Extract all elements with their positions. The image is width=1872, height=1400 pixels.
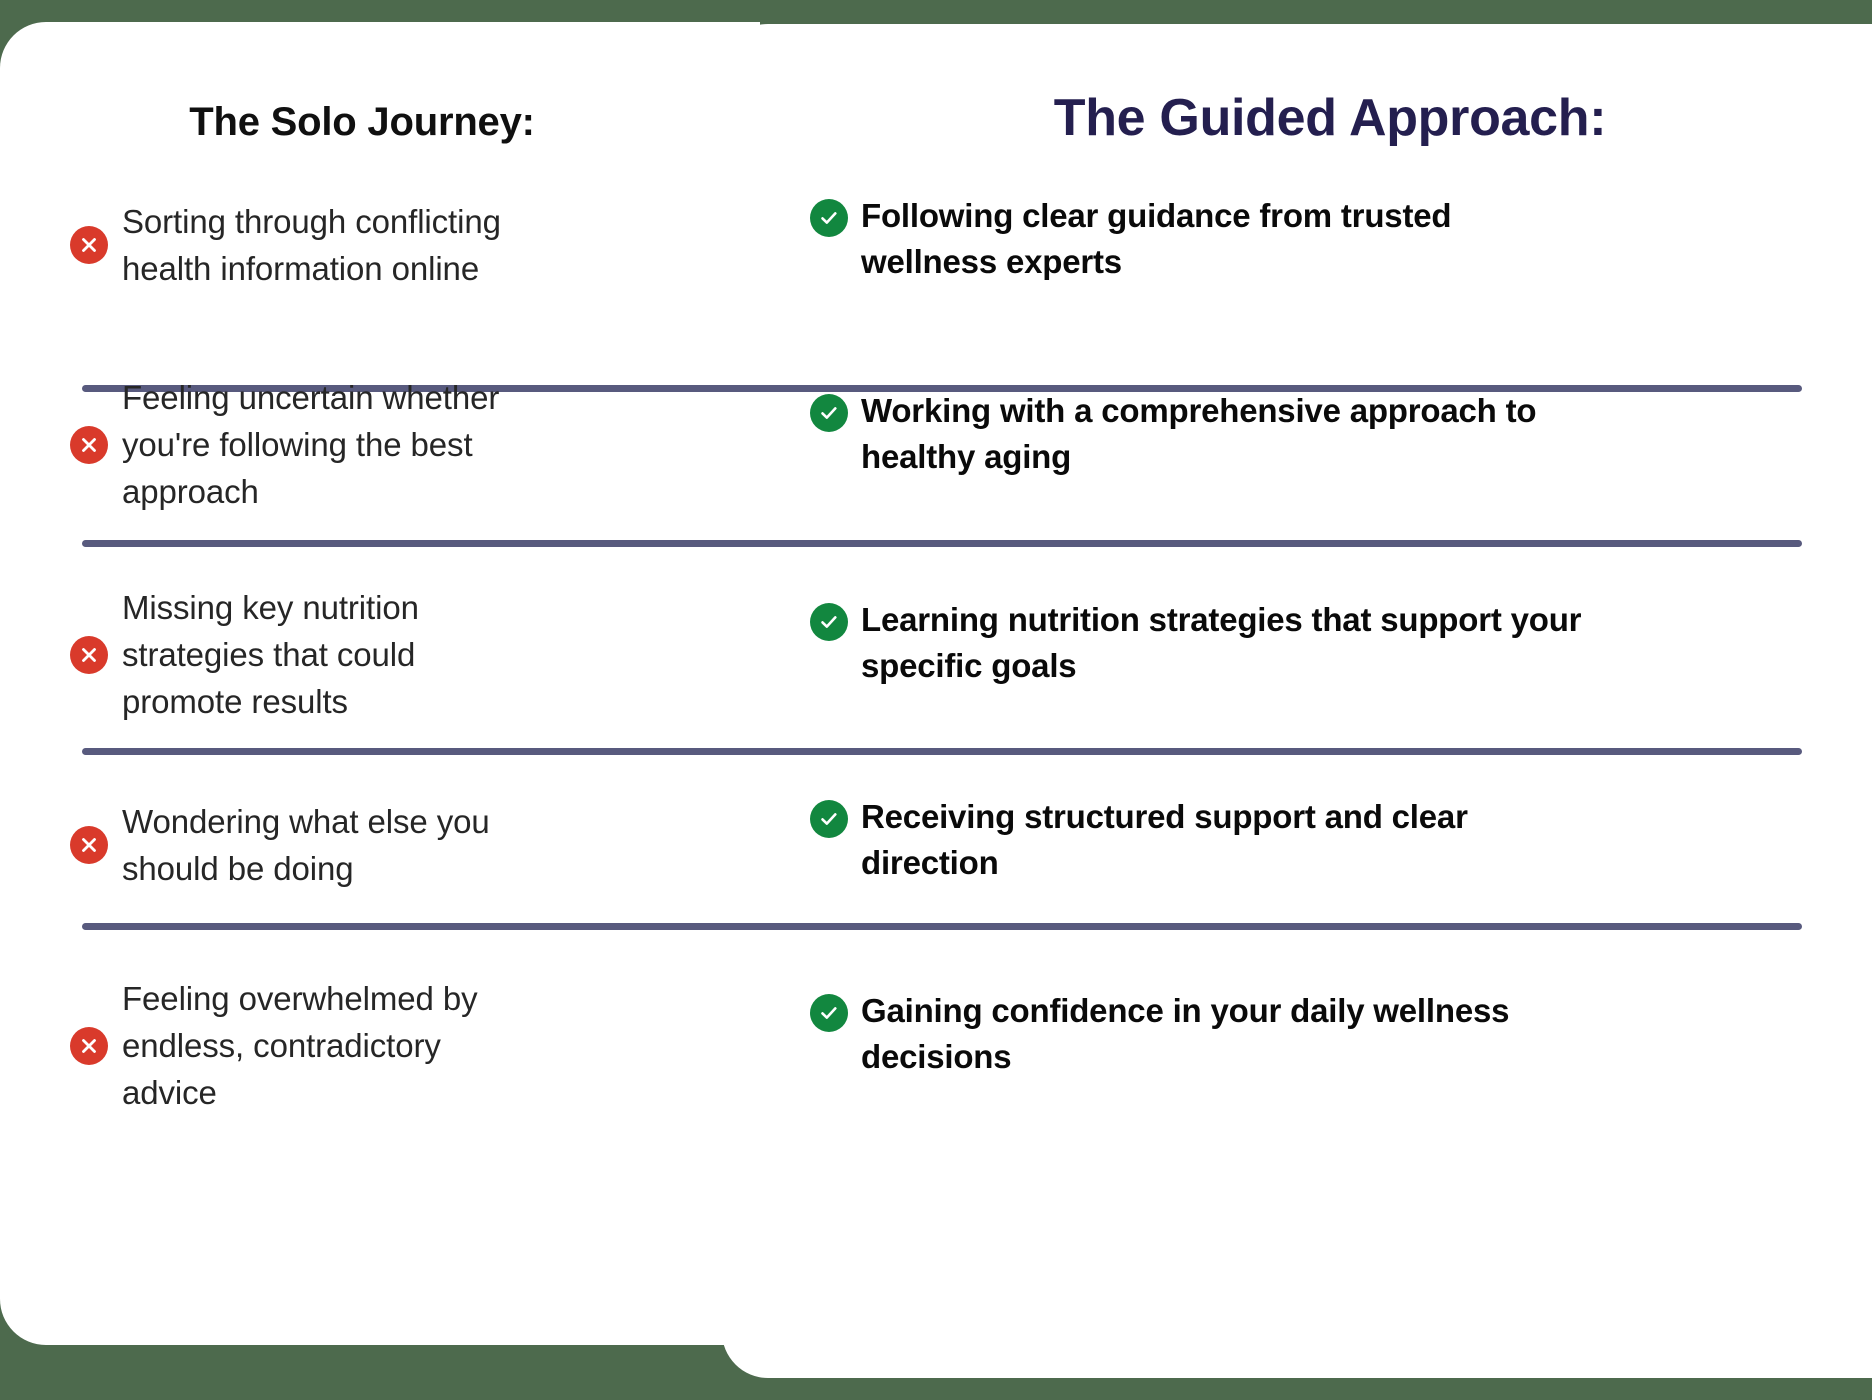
x-circle-icon (70, 826, 108, 864)
right-item-5: Gaining confidence in your daily wellnes… (810, 988, 1810, 1080)
left-item-label: Feeling overwhelmed by endless, contradi… (122, 975, 522, 1116)
left-item-label: Sorting through conflicting health infor… (122, 198, 562, 292)
check-circle-icon (810, 800, 848, 838)
right-item-1: Following clear guidance from trusted we… (810, 193, 1810, 285)
left-item-2: Feeling uncertain whether you're followi… (70, 374, 690, 515)
right-item-label: Receiving structured support and clear d… (861, 794, 1561, 886)
left-item-4: Wondering what else you should be doing (70, 798, 690, 892)
comparison-graphic: The Solo Journey: The Guided Approach: S… (0, 0, 1872, 1400)
x-circle-icon (70, 426, 108, 464)
right-column-heading: The Guided Approach: (860, 88, 1800, 148)
left-item-label: Feeling uncertain whether you're followi… (122, 374, 552, 515)
right-item-3: Learning nutrition strategies that suppo… (810, 597, 1810, 689)
right-item-label: Working with a comprehensive approach to… (861, 388, 1631, 480)
right-item-4: Receiving structured support and clear d… (810, 794, 1810, 886)
left-item-label: Missing key nutrition strategies that co… (122, 584, 472, 725)
left-item-3: Missing key nutrition strategies that co… (70, 584, 690, 725)
right-item-label: Following clear guidance from trusted we… (861, 193, 1561, 285)
left-column-heading: The Solo Journey: (82, 100, 642, 145)
right-item-2: Working with a comprehensive approach to… (810, 388, 1810, 480)
x-circle-icon (70, 1027, 108, 1065)
left-item-label: Wondering what else you should be doing (122, 798, 532, 892)
right-item-label: Gaining confidence in your daily wellnes… (861, 988, 1601, 1080)
x-circle-icon (70, 636, 108, 674)
row-divider-3 (82, 748, 1802, 755)
left-item-1: Sorting through conflicting health infor… (70, 198, 690, 292)
check-circle-icon (810, 603, 848, 641)
x-circle-icon (70, 226, 108, 264)
check-circle-icon (810, 994, 848, 1032)
row-divider-4 (82, 923, 1802, 930)
row-divider-2 (82, 540, 1802, 547)
check-circle-icon (810, 394, 848, 432)
left-item-5: Feeling overwhelmed by endless, contradi… (70, 975, 690, 1116)
check-circle-icon (810, 199, 848, 237)
right-item-label: Learning nutrition strategies that suppo… (861, 597, 1611, 689)
